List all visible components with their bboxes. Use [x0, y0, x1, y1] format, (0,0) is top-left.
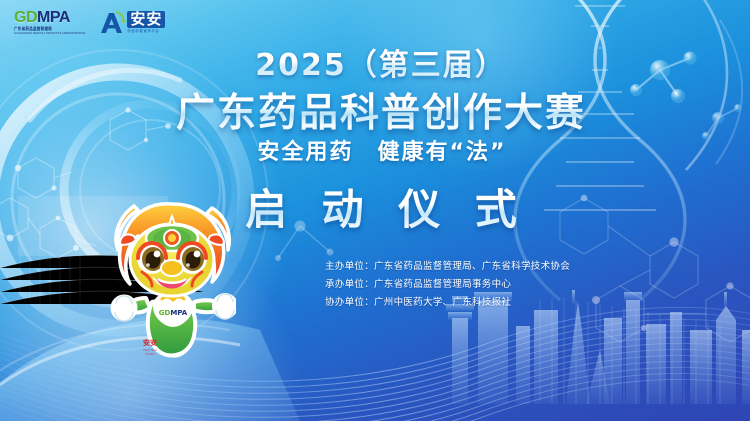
gdmpa-mpa-text: MPA — [37, 9, 70, 26]
anan-watermark-cn: 安安 — [138, 340, 162, 347]
organizer-coorganizer: 协办单位：广州中医药大学、广东科技报社 — [325, 294, 570, 308]
anan-a-mark-icon — [99, 11, 125, 35]
anan-watermark: 安安 YAO SHI TONG — [138, 340, 162, 354]
anan-subtitle-text: 药品科普宣传平台 — [127, 30, 165, 33]
mascot-bib-text: GDMPA — [159, 309, 188, 317]
mascot-glove-left-icon — [112, 296, 136, 321]
mascot-glove-right-icon — [214, 294, 237, 319]
headline-main: 广东药品科普创作大赛 — [0, 82, 750, 138]
organizer-host: 主办单位：广东省药品监督管理局、广东省科学技术协会 — [325, 258, 570, 272]
content-layer: GDMPA 广东省药品监督管理局 GUANGDONG MEDICAL PRODU… — [0, 0, 750, 421]
anan-watermark-en: YAO SHI TONG — [138, 348, 162, 356]
anan-logo: 安安 药品科普宣传平台 — [99, 11, 165, 35]
gdmpa-subtitle-cn: 广东省药品监督管理局 — [14, 28, 52, 32]
headline-slogan: 安全用药 健康有“法” — [0, 134, 750, 166]
mascot-anan: GDMPA — [108, 198, 236, 363]
gdmpa-gd-text: GD — [14, 9, 37, 26]
mascot-lion-icon: GDMPA — [108, 198, 236, 363]
headline-year: 2025（第三届） — [0, 40, 750, 84]
organizer-undertaker: 承办单位：广东省药品监督管理局事务中心 — [325, 276, 570, 290]
organizer-list: 主办单位：广东省药品监督管理局、广东省科学技术协会 承办单位：广东省药品监督管理… — [325, 258, 570, 308]
anan-text-stack: 安安 药品科普宣传平台 — [127, 11, 165, 33]
gdmpa-logo: GDMPA 广东省药品监督管理局 GUANGDONG MEDICAL PRODU… — [14, 10, 85, 35]
poster-canvas: GDMPA 广东省药品监督管理局 GUANGDONG MEDICAL PRODU… — [0, 0, 750, 421]
anan-name-text: 安安 — [127, 11, 165, 28]
logo-bar: GDMPA 广东省药品监督管理局 GUANGDONG MEDICAL PRODU… — [14, 10, 165, 35]
gdmpa-subtitle-en: GUANGDONG MEDICAL PRODUCTS ADMINISTRATIO… — [14, 33, 85, 36]
gdmpa-wordmark: GDMPA — [14, 10, 70, 26]
